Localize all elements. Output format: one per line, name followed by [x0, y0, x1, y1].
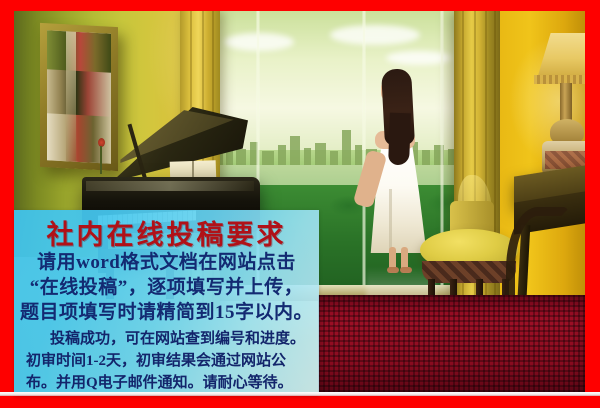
note-line-2: 初审时间1-2天，初审结果会通过网站公 — [26, 350, 316, 372]
building — [290, 136, 300, 165]
panel-title: 社内在线投稿要求 — [14, 213, 319, 252]
panel-body: 请用word格式文档在网站点击 “在线投稿”，逐项填写并上传， 题目项填写时请精… — [14, 250, 319, 325]
note-line-1: 投稿成功，可在网站查到编号和进度。 — [26, 328, 316, 350]
building — [236, 149, 246, 164]
building — [315, 143, 326, 165]
poster-image: 社内在线投稿要求 请用word格式文档在网站点击 “在线投稿”，逐项填写并上传，… — [0, 0, 600, 408]
building — [330, 151, 338, 165]
note-line-3: 布。并用Q电子邮件通知。请耐心等待。 — [26, 372, 316, 394]
building — [278, 145, 286, 165]
body-line-1: 请用word格式文档在网站点击 — [14, 250, 319, 275]
panel-note: 投稿成功，可在网站查到编号和进度。 初审时间1-2天，初审结果会通过网站公 布。… — [16, 328, 316, 394]
body-line-3: 题目项填写时请精简到15字以内。 — [14, 300, 319, 325]
building-tall — [342, 130, 351, 165]
painting-vertical-stripe — [66, 31, 76, 162]
photo-bottom-hairline — [0, 392, 600, 396]
cloud — [330, 25, 420, 45]
piano-highlight — [86, 181, 254, 191]
hair-strand — [388, 113, 411, 166]
patterned-carpet — [318, 295, 585, 392]
announcement-panel: 社内在线投稿要求 请用word格式文档在网站点击 “在线投稿”，逐项填写并上传，… — [14, 210, 319, 396]
building — [262, 151, 274, 164]
dress-fold — [389, 189, 392, 249]
wall-painting-frame — [40, 23, 118, 171]
body-line-2: “在线投稿”，逐项填写并上传， — [14, 275, 319, 300]
building — [304, 148, 311, 165]
rose-stem — [100, 146, 102, 174]
